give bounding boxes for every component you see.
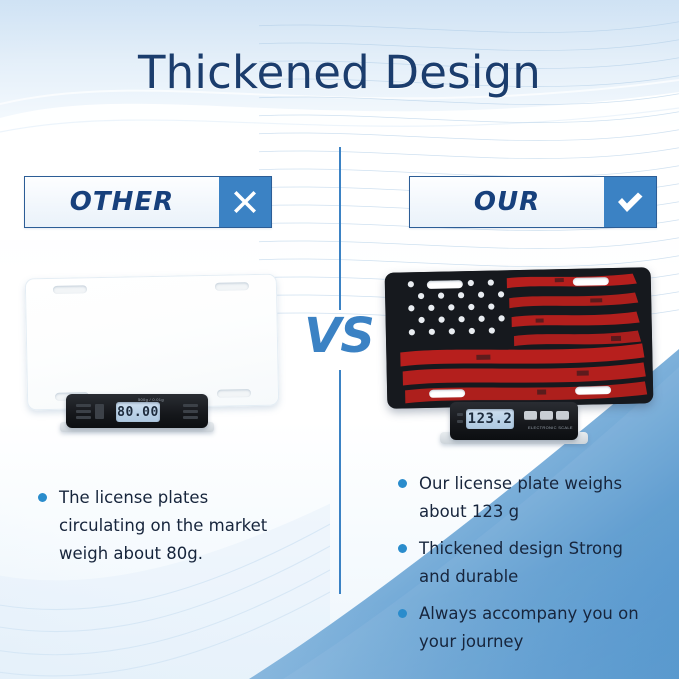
plate-mount-slot [575, 386, 611, 395]
bullet-dot-icon [398, 479, 407, 488]
scale-our: 123.2 ELECTRONIC SCALE [450, 402, 578, 440]
list-item: Always accompany you on your journey [398, 600, 648, 656]
bullet-text: Always accompany you on your journey [419, 600, 648, 656]
scale-button-tare[interactable] [556, 411, 569, 420]
infographic-canvas: Thickened Design VS OTHER OUR [0, 0, 679, 679]
plate-mount-slot [215, 282, 249, 291]
bullet-text: Our license plate weighs about 123 g [419, 470, 648, 526]
bullet-dot-icon [398, 544, 407, 553]
badge-other-label-box: OTHER [25, 177, 219, 227]
divider-line-top [339, 147, 341, 310]
badge-our-label-box: OUR [410, 177, 604, 227]
vs-label: VS [300, 306, 378, 366]
bullet-dot-icon [38, 493, 47, 502]
bullet-text: Thickened design Strong and durable [419, 535, 648, 591]
distressed-flag-art [385, 267, 654, 409]
product-our: 123.2 ELECTRONIC SCALE [378, 264, 660, 460]
page-title: Thickened Design [0, 50, 679, 95]
scale-vent [76, 416, 91, 419]
scale-vent [76, 410, 91, 413]
scale-vent [183, 410, 198, 413]
bullets-other: The license plates circulating on the ma… [38, 484, 278, 577]
scale-brand-text: ELECTRONIC SCALE [528, 425, 573, 430]
scale-vent [457, 413, 463, 416]
blank-white-license-plate [25, 274, 279, 411]
bullets-our: Our license plate weighs about 123 g Thi… [398, 470, 648, 665]
list-item: Our license plate weighs about 123 g [398, 470, 648, 526]
scale-vent [457, 420, 463, 423]
scale-vent [183, 404, 198, 407]
bullet-text: The license plates circulating on the ma… [59, 484, 278, 568]
divider-line-bottom [339, 370, 341, 594]
product-other: 500g / 0.01g 80.00 [20, 268, 290, 458]
badge-our-label: OUR [474, 187, 540, 217]
scale-lcd-our: 123.2 [466, 409, 514, 429]
plate-mount-slot [217, 389, 251, 398]
scale-reading-our: 123.2 [468, 411, 513, 427]
cross-icon [230, 187, 260, 217]
plate-mount-slot [427, 280, 463, 289]
plate-mount-slot [573, 277, 609, 286]
american-flag-license-plate [385, 267, 654, 409]
badge-our-mark [604, 177, 656, 227]
list-item: Thickened design Strong and durable [398, 535, 648, 591]
badge-other-label: OTHER [70, 187, 174, 217]
scale-other: 500g / 0.01g 80.00 [66, 394, 208, 428]
scale-button-mode[interactable] [540, 411, 553, 420]
plate-mount-slot [53, 285, 87, 294]
list-item: The license plates circulating on the ma… [38, 484, 278, 568]
badge-other: OTHER [24, 176, 272, 228]
badge-other-mark [219, 177, 271, 227]
bullet-dot-icon [398, 609, 407, 618]
scale-button-on[interactable] [524, 411, 537, 420]
plate-mount-slot [429, 389, 465, 398]
scale-lcd-other: 80.00 [116, 402, 160, 422]
scale-vent [76, 404, 91, 407]
scale-vent [95, 404, 104, 419]
scale-vent [183, 416, 198, 419]
scale-reading-other: 80.00 [117, 405, 159, 420]
badge-our: OUR [409, 176, 657, 228]
check-icon [614, 186, 646, 218]
